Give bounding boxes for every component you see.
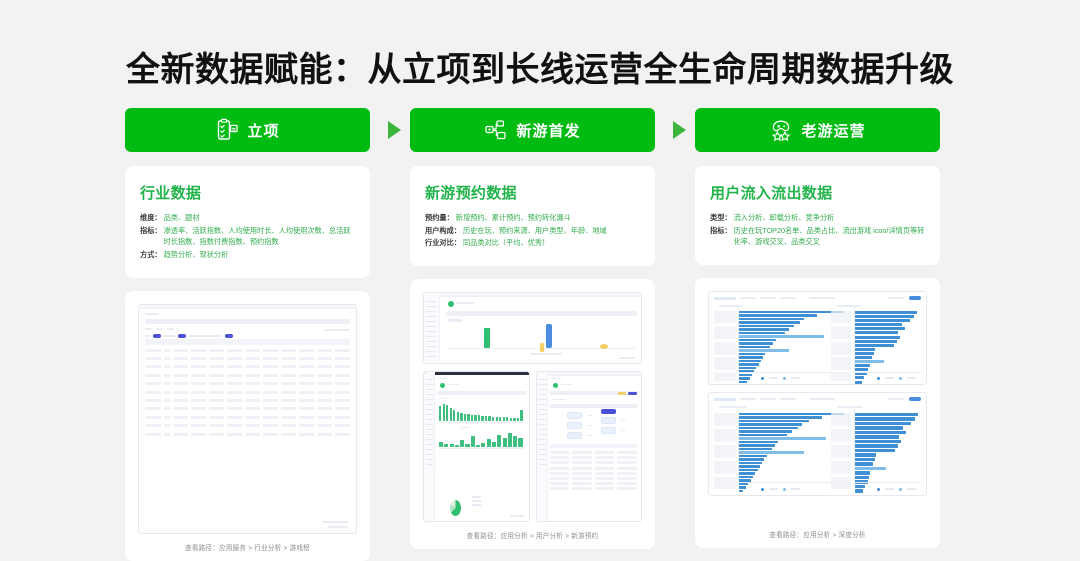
sk-label <box>437 378 447 380</box>
sk-filter-bar <box>437 391 526 395</box>
sk-table-row <box>550 451 638 454</box>
sk-label <box>456 302 474 304</box>
sk-footer-label <box>619 357 635 359</box>
sk-label <box>587 415 592 417</box>
sk-chip <box>618 392 626 395</box>
sk-table <box>550 444 638 515</box>
sk-primary-button[interactable] <box>909 296 921 300</box>
sk-label <box>189 335 222 337</box>
stage-pill-label-3: 老游运营 <box>801 120 865 141</box>
stage-screenshot-card-1: 查看路径：应用服务 > 行业分析 > 游戏榜 <box>125 291 370 561</box>
sk-table-row <box>145 415 350 420</box>
sk-filter-bar <box>550 404 639 408</box>
sk-axis-x <box>855 372 922 373</box>
sk-tab <box>760 398 776 400</box>
sk-pie-chart <box>450 500 461 516</box>
stage-screenshot-card-3: 查看路径：应用分析 > 深度分析 <box>695 278 940 548</box>
sk-tab <box>740 297 756 299</box>
sk-search-bar <box>145 319 350 324</box>
sk-axis-x <box>855 482 922 483</box>
stage-text-card-2: 新游预约数据 预约量： 新增预约、累计预约、预约转化漏斗 用户构成： 历史在玩、… <box>410 166 655 266</box>
screenshot-outflow-analysis[interactable] <box>708 392 927 496</box>
sk-funnel-step <box>567 422 582 429</box>
sk-label <box>460 427 470 429</box>
sk-label <box>447 384 459 386</box>
sk-bar-blue <box>546 324 552 348</box>
sk-label <box>156 328 163 330</box>
sk-table <box>145 339 350 529</box>
sk-sidebar <box>424 372 435 521</box>
frame-topbar <box>424 372 529 375</box>
stage-pill-1[interactable]: 立项 <box>125 108 370 152</box>
sk-table-row <box>550 456 638 459</box>
sk-bar-amber <box>540 343 544 352</box>
row-key: 方式： <box>140 249 162 261</box>
sk-funnel-step <box>567 412 582 419</box>
card-row: 预约量： 新增预约、累计预约、预约转化漏斗 <box>425 212 641 224</box>
sk-table-row <box>550 472 638 475</box>
row-value: 历史在玩TOP20名单、品类占比、流出游戏 icon/详情页等转化率、游戏交叉、… <box>734 225 926 248</box>
sk-table-row <box>550 487 638 490</box>
row-key: 用户构成： <box>425 225 461 237</box>
sk-filter-chip[interactable] <box>225 334 233 338</box>
row-value: 同品类对比（平均、优秀） <box>463 237 549 249</box>
stage-pill-label-1: 立项 <box>247 120 279 141</box>
row-key: 行业对比： <box>425 237 461 249</box>
sk-table-row <box>145 390 350 395</box>
sk-table-row <box>145 348 350 353</box>
sk-label <box>145 328 152 330</box>
stage-text-card-1: 行业数据 维度： 品类、题材 指标： 渗透率、活跃指数、人均使用时长、人均使用次… <box>125 166 370 278</box>
sk-tab-active <box>714 297 736 300</box>
row-value: 流入分析、卸载分析、竞争分析 <box>734 212 835 224</box>
gamepad-icon <box>769 118 793 142</box>
screenshot-preorder-bars[interactable] <box>423 292 642 364</box>
row-key: 类型： <box>710 212 732 224</box>
sk-label <box>621 420 626 422</box>
sk-primary-button[interactable] <box>909 397 921 401</box>
stage-column-1: 立项 行业数据 维度： 品类、题材 指标： 渗透率、活跃指数、人均使用时长、人均… <box>125 108 370 561</box>
sk-hbar-series-right <box>855 413 922 493</box>
sk-avatar <box>448 301 454 307</box>
sk-label <box>163 335 176 337</box>
row-value: 渗透率、活跃指数、人均使用时长、人均使用次数、总活跃时长指数、指数付费指数、预约… <box>164 225 356 248</box>
sk-avatar <box>440 383 445 388</box>
sk-table-row <box>550 482 638 485</box>
sk-avatar <box>553 383 558 388</box>
sk-axis-label <box>530 353 562 355</box>
sk-tab <box>780 297 796 299</box>
card-row: 方式： 趋势分析、现状分析 <box>140 249 356 261</box>
sk-table-row <box>145 406 350 411</box>
row-value: 品类、题材 <box>164 212 200 224</box>
view-path-3: 查看路径：应用分析 > 深度分析 <box>708 521 927 548</box>
stage-column-2: 新游首发 新游预约数据 预约量： 新增预约、累计预约、预约转化漏斗 用户构成： … <box>410 108 655 561</box>
sk-filter-bar <box>446 311 637 316</box>
sk-label <box>587 425 592 427</box>
card-title-2: 新游预约数据 <box>425 182 641 203</box>
card-row: 用户构成： 历史在玩、预约来源、用户类型、年龄、地域 <box>425 225 641 237</box>
row-key: 预约量： <box>425 212 454 224</box>
sk-table-row <box>145 381 350 386</box>
sk-table-row <box>145 364 350 369</box>
sk-chart-title <box>837 305 861 307</box>
stage-columns: 立项 行业数据 维度： 品类、题材 指标： 渗透率、活跃指数、人均使用时长、人均… <box>125 108 955 561</box>
sk-table-row <box>550 477 638 480</box>
sk-tab <box>740 398 756 400</box>
sk-chart-title <box>719 406 747 408</box>
stage-arrow-1 <box>388 121 401 139</box>
screenshot-area-3 <box>708 291 927 521</box>
card-row: 指标： 渗透率、活跃指数、人均使用时长、人均使用次数、总活跃时长指数、指数付费指… <box>140 225 356 248</box>
sk-label <box>439 398 447 400</box>
sk-label <box>621 430 626 432</box>
sk-table-row <box>550 461 638 464</box>
sk-label <box>550 378 562 380</box>
frame-topbar <box>424 293 641 297</box>
sk-filter-chip[interactable] <box>153 334 161 338</box>
screenshot-area-2 <box>423 292 642 522</box>
card-row: 类型： 流入分析、卸载分析、竞争分析 <box>710 212 926 224</box>
screenshot-inflow-analysis[interactable] <box>708 291 927 385</box>
row-key: 维度： <box>140 212 162 224</box>
sk-tab <box>780 398 796 400</box>
sk-legend <box>472 496 481 506</box>
sk-table-row <box>145 356 350 361</box>
sk-axis-x <box>439 422 523 423</box>
sk-label <box>888 297 904 299</box>
sk-marker-amber <box>600 344 608 349</box>
screenshot-user-composition[interactable] <box>423 371 530 522</box>
sk-axis-labels-right <box>831 413 851 489</box>
row-key: 指标： <box>140 225 162 248</box>
screenshot-area-1 <box>138 304 357 534</box>
sk-table-header <box>145 339 350 345</box>
page-title: 全新数据赋能：从立项到长线运营全生命周期数据升级 <box>0 42 1080 91</box>
sk-label <box>145 335 150 337</box>
frame-topbar <box>139 305 356 309</box>
sk-tab <box>809 297 835 299</box>
sk-footer-label <box>510 515 524 517</box>
sk-chart-title <box>719 305 743 307</box>
sk-table-row <box>145 398 350 403</box>
sk-label <box>145 313 159 316</box>
sk-chart-title <box>837 406 863 408</box>
card-row: 指标： 历史在玩TOP20名单、品类占比、流出游戏 icon/详情页等转化率、游… <box>710 225 926 248</box>
row-value: 趋势分析、现状分析 <box>164 249 229 261</box>
sk-tab <box>760 297 776 299</box>
card-row: 行业对比： 同品类对比（平均、优秀） <box>425 237 641 249</box>
sk-table-row <box>145 373 350 378</box>
sk-bar-series <box>439 432 523 447</box>
sk-label <box>324 329 350 331</box>
sk-legend <box>761 488 800 491</box>
row-key: 指标： <box>710 225 732 248</box>
slide-root: 全新数据赋能：从立项到长线运营全生命周期数据升级 立项 行业数据 <box>0 0 1080 538</box>
stage-pill-2[interactable]: 新游首发 <box>410 108 655 152</box>
sk-axis-labels-right <box>831 311 851 381</box>
sk-sidebar <box>424 293 440 363</box>
sk-axis-labels-left <box>714 413 736 489</box>
sk-legend <box>877 377 916 380</box>
stage-pill-3[interactable]: 老游运营 <box>695 108 940 152</box>
sk-funnel-step <box>601 417 616 424</box>
sk-legend <box>761 377 800 380</box>
new-game-launch-icon <box>484 118 508 142</box>
sk-table-row <box>550 467 638 470</box>
stage-screenshot-card-2: 查看路径：应用分析 > 用户分析 > 新游预约 <box>410 279 655 549</box>
stage-text-card-3: 用户流入流出数据 类型： 流入分析、卸载分析、竞争分析 指标： 历史在玩TOP2… <box>695 166 940 265</box>
card-title-3: 用户流入流出数据 <box>710 182 926 203</box>
stage-column-3: 老游运营 用户流入流出数据 类型： 流入分析、卸载分析、竞争分析 指标： 历史在… <box>695 108 940 561</box>
clipboard-checklist-icon <box>215 118 239 142</box>
screenshot-table-dashboard[interactable] <box>138 304 357 534</box>
sk-bar-series <box>439 403 523 421</box>
sk-label <box>448 319 462 322</box>
card-row: 维度： 品类、题材 <box>140 212 356 224</box>
stage-arrow-2 <box>673 121 686 139</box>
sk-footer-label <box>322 521 348 523</box>
screenshot-row-2 <box>423 371 642 522</box>
sk-footer-label <box>328 526 348 528</box>
sk-tab <box>809 398 835 400</box>
card-title-1: 行业数据 <box>140 182 356 203</box>
sk-funnel-step <box>567 432 582 439</box>
sk-bar-green <box>484 328 490 348</box>
sk-filter-chip[interactable] <box>178 334 186 338</box>
sk-table-header <box>550 444 638 448</box>
sk-label <box>888 398 904 400</box>
sk-label <box>167 328 174 330</box>
stage-pill-label-2: 新游首发 <box>516 120 580 141</box>
sk-label <box>587 435 592 437</box>
row-value: 新增预约、累计预约、预约转化漏斗 <box>456 212 571 224</box>
frame-topbar <box>537 372 642 376</box>
sk-funnel-step-active <box>601 409 616 414</box>
sk-tab-active <box>714 398 736 401</box>
sk-table-row <box>145 423 350 428</box>
sk-sidebar <box>537 372 548 521</box>
sk-label <box>560 384 572 386</box>
sk-primary-button[interactable] <box>628 392 637 396</box>
sk-funnel-step <box>601 427 616 434</box>
sk-label <box>552 399 566 401</box>
row-value: 历史在玩、预约来源、用户类型、年龄、地域 <box>463 225 607 237</box>
sk-table-row <box>145 432 350 437</box>
sk-axis-x <box>439 448 523 449</box>
view-path-2: 查看路径：应用分析 > 用户分析 > 新游预约 <box>423 522 642 549</box>
screenshot-conversion-funnel[interactable] <box>536 371 643 522</box>
sk-legend <box>877 488 916 491</box>
sk-axis-labels-left <box>714 311 736 381</box>
